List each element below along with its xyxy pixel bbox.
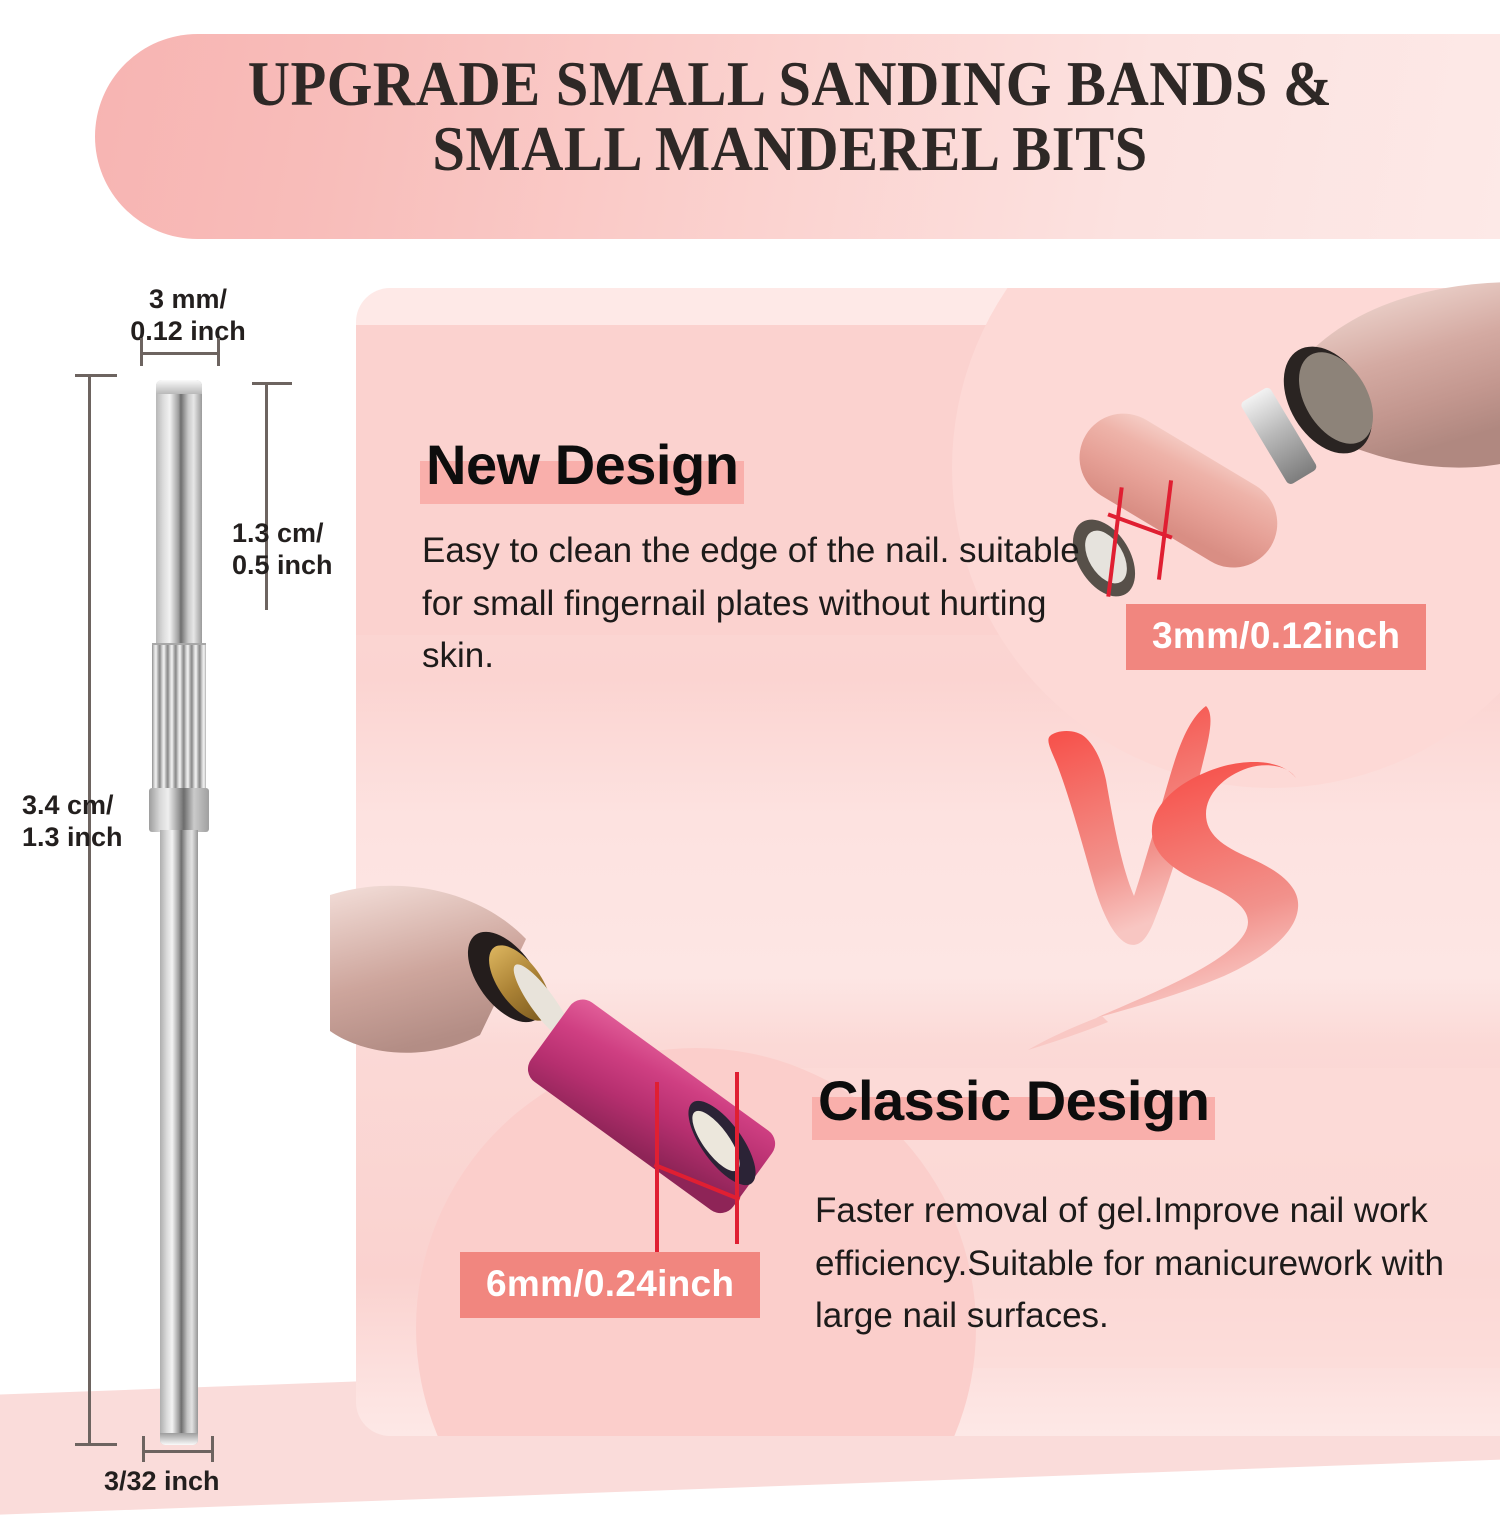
head-length-line-2: 0.5 inch — [232, 550, 333, 580]
total-length-line-1: 3.4 cm/ — [22, 790, 114, 820]
versus-brush-mark — [1010, 700, 1340, 1080]
head-length-line-1: 1.3 cm/ — [232, 518, 324, 548]
mandrel-bit-image — [148, 380, 210, 1445]
classic-design-size-badge: 6mm/0.24inch — [460, 1252, 760, 1318]
total-length-label: 3.4 cm/ 1.3 inch — [22, 790, 123, 854]
new-design-size-badge: 3mm/0.12inch — [1126, 604, 1426, 670]
width-rule-tick-left — [140, 338, 143, 366]
new-design-heading: New Design — [420, 432, 744, 497]
page-title-line-2: SMALL MANDEREL BITS — [144, 117, 1437, 182]
new-design-drill-bit-photo — [1040, 282, 1500, 612]
shank-rule — [142, 1450, 214, 1453]
mandrel-lower-shank — [160, 830, 198, 1445]
mandrel-spec-column: 3 mm/ 0.12 inch 1.3 cm/ 0.5 inch 3.4 cm/… — [0, 270, 350, 1500]
total-length-line-2: 1.3 inch — [22, 822, 123, 852]
total-length-rule — [88, 374, 91, 1446]
mandrel-upper-shaft — [156, 380, 202, 645]
classic-design-measure-line-right — [735, 1072, 739, 1244]
total-length-tick-top — [75, 374, 117, 377]
new-design-heading-text: New Design — [420, 432, 744, 497]
new-design-body: Easy to clean the edge of the nail. suit… — [422, 525, 1082, 683]
total-length-tick-bottom — [75, 1443, 117, 1446]
page-title: UPGRADE SMALL SANDING BANDS & SMALL MAND… — [144, 52, 1437, 182]
mandrel-knurled-grip — [152, 643, 206, 793]
classic-design-body: Faster removal of gel.Improve nail work … — [815, 1185, 1455, 1343]
head-length-tick-top — [252, 382, 292, 385]
width-rule-tick-right — [217, 338, 220, 366]
mandrel-collar — [149, 788, 209, 832]
width-label-line-1: 3 mm/ — [149, 284, 227, 314]
shank-tick-left — [142, 1436, 145, 1462]
page-title-line-1: UPGRADE SMALL SANDING BANDS & — [248, 49, 1333, 119]
width-label-line-2: 0.12 inch — [130, 316, 246, 346]
width-dimension-label: 3 mm/ 0.12 inch — [128, 284, 248, 348]
width-rule — [140, 352, 220, 355]
head-length-label: 1.3 cm/ 0.5 inch — [232, 518, 333, 582]
classic-design-measure-line-left — [655, 1082, 659, 1268]
shank-tick-right — [211, 1436, 214, 1462]
shank-width-label: 3/32 inch — [104, 1466, 220, 1498]
